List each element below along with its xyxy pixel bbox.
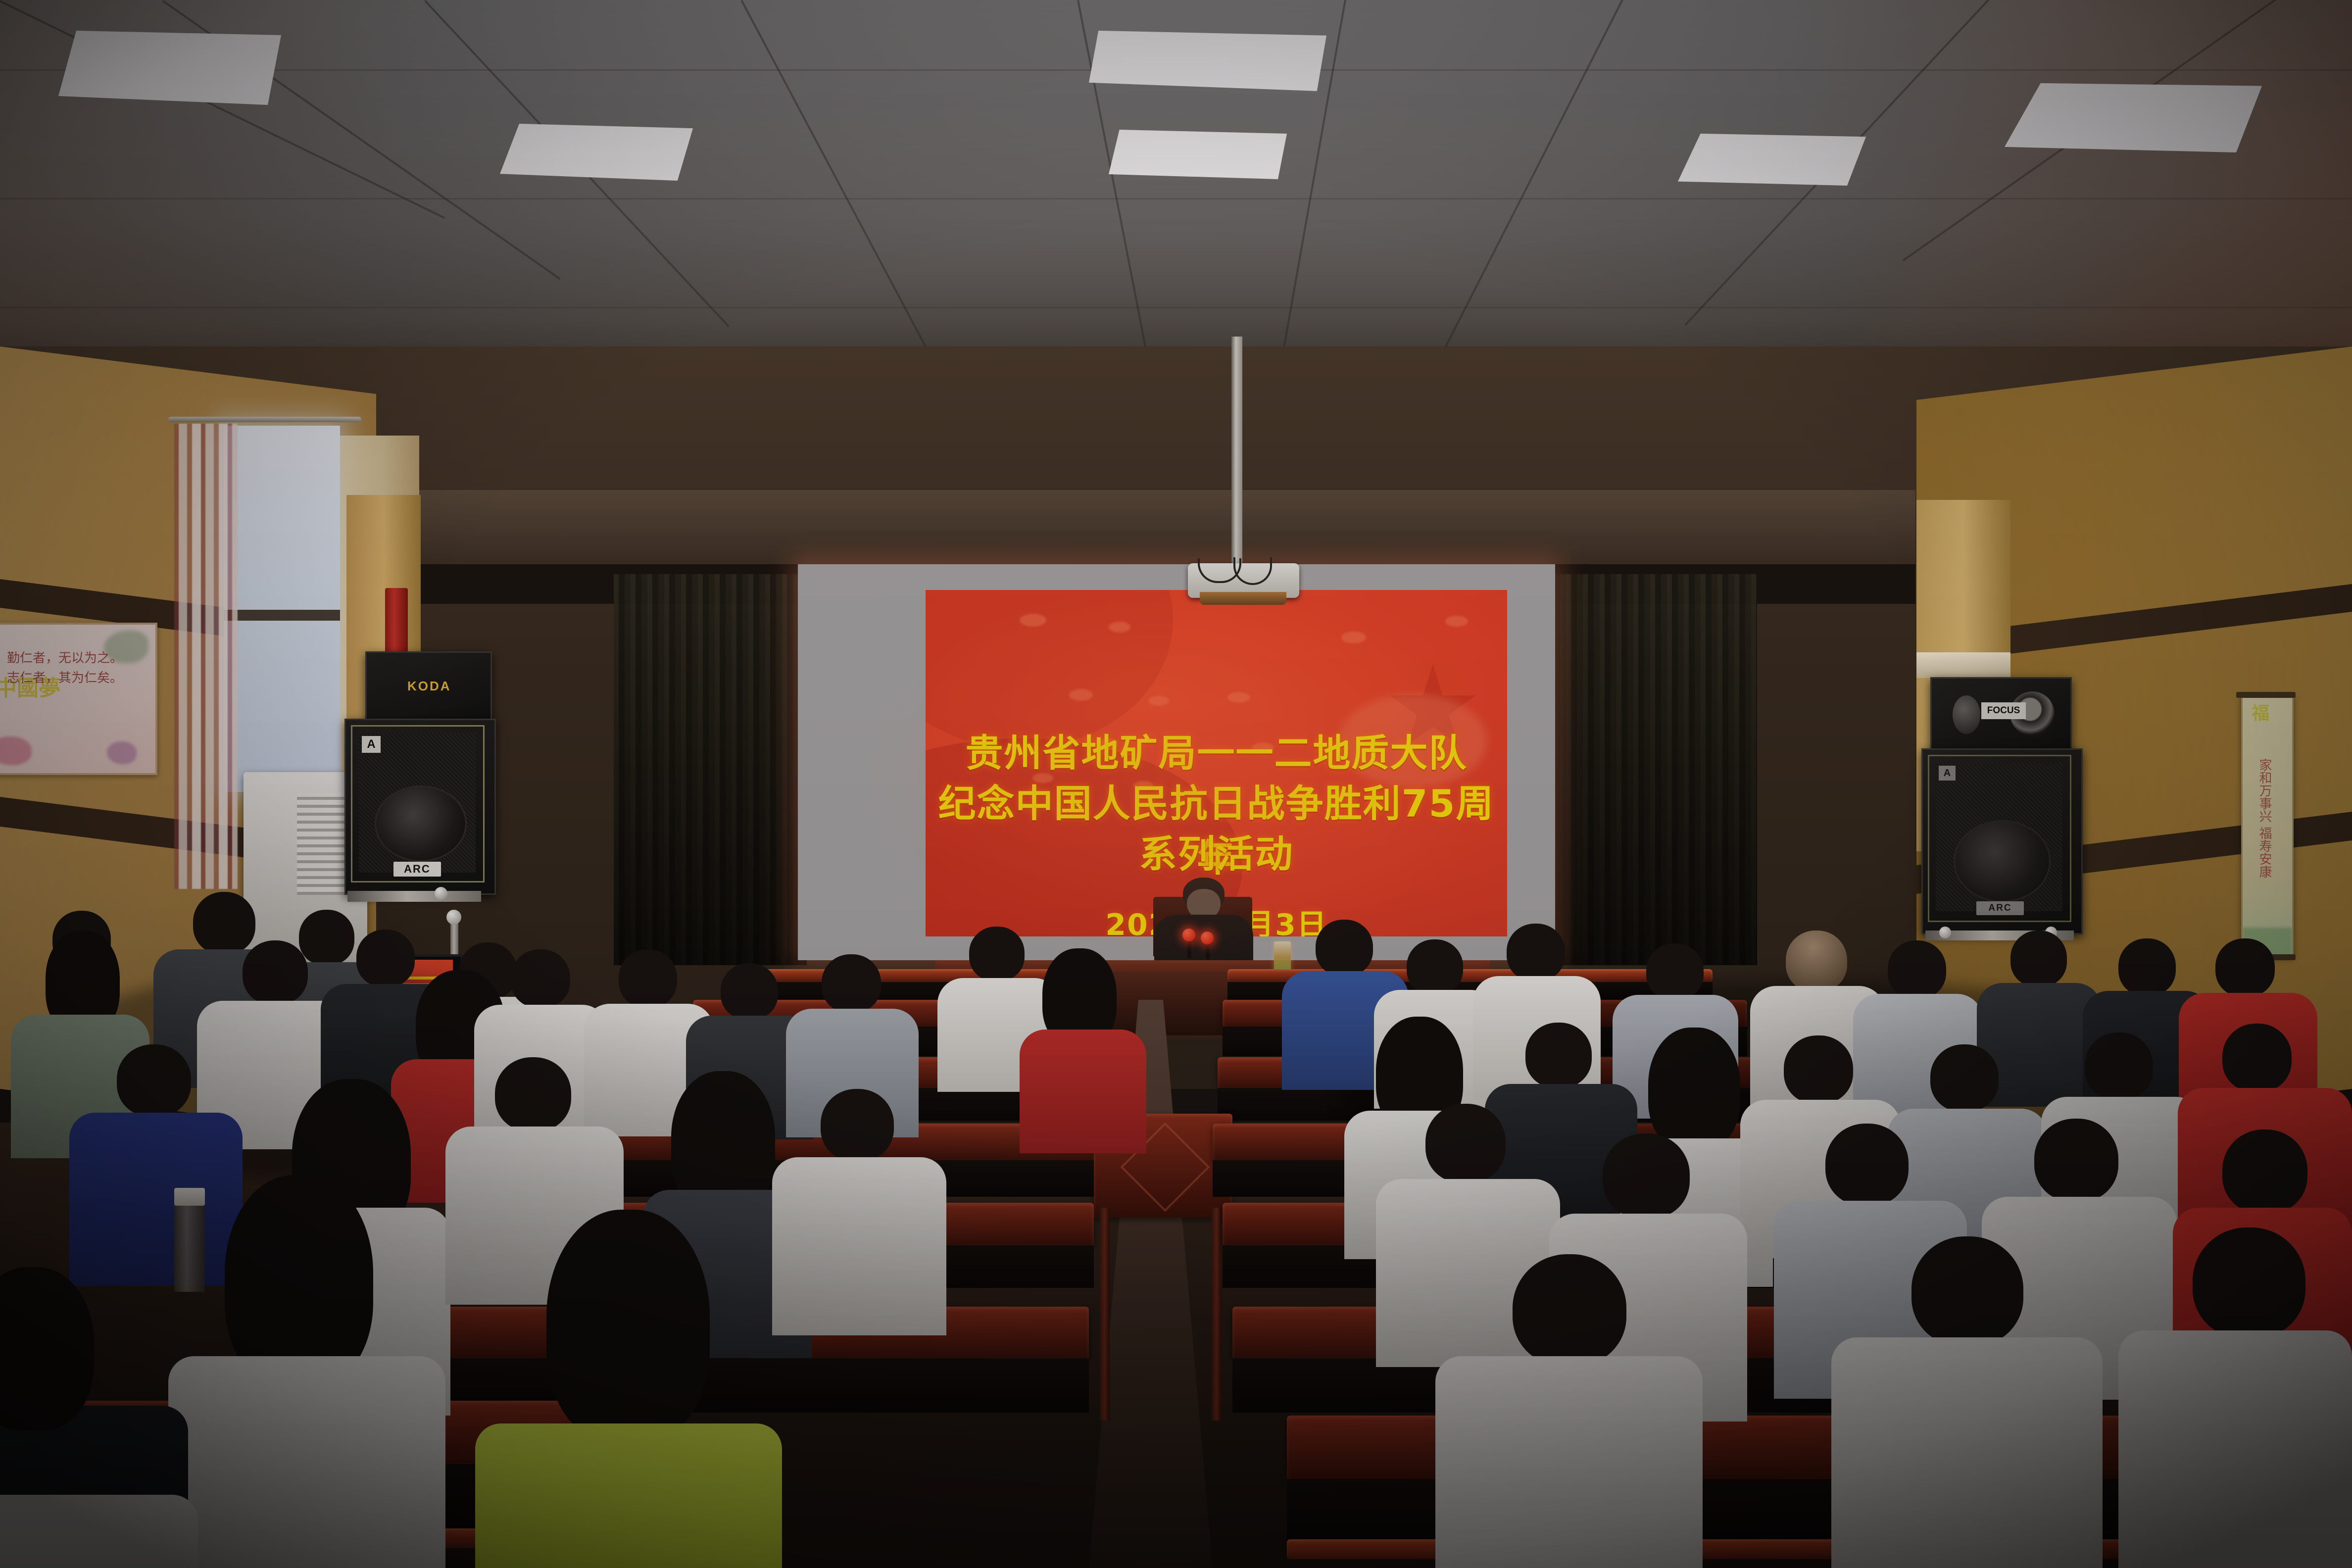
speaker-brand-label-focus: FOCUS <box>1981 702 2026 719</box>
audience-head <box>2034 1119 2118 1202</box>
column-light-band <box>1916 652 2010 678</box>
scroll-body-text: 家和万事兴 福寿安康 <box>2253 758 2276 922</box>
audience-hair <box>1648 1028 1740 1151</box>
conference-hall-photo: 中國夢 勤仁者，无以为之。 志仁者，其为仁矣。 福 家和万事兴 福寿安康 KOD… <box>0 0 2352 1568</box>
audience-head <box>2118 938 2176 996</box>
left-wall-calligraphy-poster: 中國夢 勤仁者，无以为之。 志仁者，其为仁矣。 <box>0 623 157 775</box>
ceiling-seam <box>0 307 2352 308</box>
audience-head <box>2010 931 2067 987</box>
ceiling-light-panel <box>500 124 693 181</box>
audience-torso <box>772 1157 946 1335</box>
slide-bokeh-dot <box>1109 622 1130 633</box>
right-wall-hanging-scroll: 福 家和万事兴 福寿安康 <box>2241 695 2294 957</box>
poster-lotus-decor <box>0 736 32 765</box>
audience-head <box>1507 924 1565 981</box>
speaker-corner-logo: A <box>1939 766 1956 781</box>
speaker-brand-label-arc: ARC <box>1976 901 2024 915</box>
speaker-stand-knob <box>435 887 447 900</box>
projector-lens <box>1200 592 1286 605</box>
audience-head <box>511 949 570 1008</box>
audience-torso <box>69 1113 243 1286</box>
bench-leg <box>1100 1208 1110 1421</box>
speaker-woofer-cone <box>375 785 467 862</box>
audience-head <box>1316 920 1373 976</box>
audience-head <box>299 910 354 965</box>
left-speaker-stand <box>347 891 481 902</box>
audience-head <box>117 1044 191 1117</box>
curtain-rod <box>168 417 361 422</box>
ceiling-light-panel <box>1109 130 1287 179</box>
slide-bokeh-dot <box>1020 614 1046 627</box>
audience-head <box>1646 943 1704 1000</box>
audience-head <box>356 930 415 987</box>
audience-head <box>1407 939 1463 995</box>
audience-head <box>822 954 881 1013</box>
stage-curtain-left-shade <box>614 574 807 965</box>
microphone-indicator-light <box>1182 929 1195 941</box>
right-speaker-top-cabinet: FOCUS <box>1930 677 2072 753</box>
audience-torso <box>1435 1356 1703 1568</box>
audience-head <box>2085 1032 2153 1100</box>
water-bottle <box>174 1203 205 1292</box>
poster-body-text: 勤仁者，无以为之。 志仁者，其为仁矣。 <box>7 648 123 688</box>
audience-head <box>1513 1254 1626 1366</box>
audience-head <box>1825 1124 1909 1206</box>
left-speaker-main-cabinet: A ARC <box>344 719 496 895</box>
speaker-brand-label-arc: ARC <box>393 862 441 877</box>
ceiling-warm-light-right <box>1610 0 2352 376</box>
bench-leg <box>1212 1208 1222 1421</box>
projector-mount-pole <box>1231 337 1242 569</box>
slide-bokeh-dot <box>1341 632 1366 643</box>
ceiling-light-panel <box>1678 134 1866 186</box>
audience-head <box>2193 1227 2305 1338</box>
audience-torso <box>168 1356 445 1568</box>
water-bottle-cap <box>174 1188 205 1206</box>
ceiling-light-panel <box>1089 31 1326 91</box>
audience-head <box>243 940 308 1005</box>
audience-torso <box>475 1423 782 1568</box>
audience-head <box>2222 1129 2307 1214</box>
slide-bokeh-dot <box>1069 689 1093 701</box>
audience-head <box>1525 1023 1592 1088</box>
speaker-stand-knob <box>1939 927 1951 938</box>
audience-head <box>1911 1236 2023 1346</box>
monitor-stand-knob <box>446 910 461 925</box>
slide-bokeh-dot <box>1148 696 1169 706</box>
speaker-tweeter-horn <box>1953 695 1980 734</box>
audience-head <box>193 892 255 954</box>
poster-lotus-decor <box>107 741 137 764</box>
audience-head <box>1603 1133 1690 1219</box>
ceiling-seam <box>0 198 2352 199</box>
scroll-top-rod <box>2236 692 2296 698</box>
microphone-indicator-light <box>1201 931 1214 944</box>
window-mullion <box>224 610 340 621</box>
slide-title-line-1: 贵州省地矿局一一二地质大队 <box>926 723 1507 777</box>
left-window <box>224 426 340 792</box>
scroll-heading: 福 <box>2252 699 2269 725</box>
audience-head <box>495 1057 571 1131</box>
ceiling-light-panel <box>58 31 281 105</box>
speaker-corner-logo: A <box>362 736 381 753</box>
left-window-curtain[interactable] <box>174 424 238 889</box>
speaker-woofer-cone <box>1954 820 2051 902</box>
audience-head <box>1930 1044 1999 1112</box>
slide-bokeh-dot <box>1227 692 1250 703</box>
audience-head <box>1888 940 1946 999</box>
left-speaker-top-cabinet: KODA <box>365 651 492 724</box>
audience-torso <box>2118 1330 2352 1568</box>
audience-torso <box>1831 1337 2103 1568</box>
stage-curtain-right-shade <box>1549 574 1757 965</box>
audience-head <box>1784 1035 1853 1104</box>
speaker-brand-label-koda: KODA <box>407 679 451 694</box>
audience-head <box>2215 938 2275 997</box>
audience-head <box>721 963 778 1020</box>
slide-title-line-3: 系列活动 <box>926 824 1507 878</box>
right-speaker-main-cabinet: A ARC <box>1921 748 2083 934</box>
audience-torso <box>0 1495 198 1568</box>
audience-head <box>969 927 1025 981</box>
audience-head <box>2222 1024 2292 1092</box>
audience-head <box>1425 1104 1506 1183</box>
audience-head-bald <box>1786 931 1847 992</box>
audience-head <box>821 1089 894 1161</box>
audience-head <box>619 949 677 1008</box>
audience-torso <box>1020 1029 1146 1153</box>
ceiling-light-panel <box>2005 83 2262 152</box>
slide-bokeh-dot <box>1445 616 1468 627</box>
